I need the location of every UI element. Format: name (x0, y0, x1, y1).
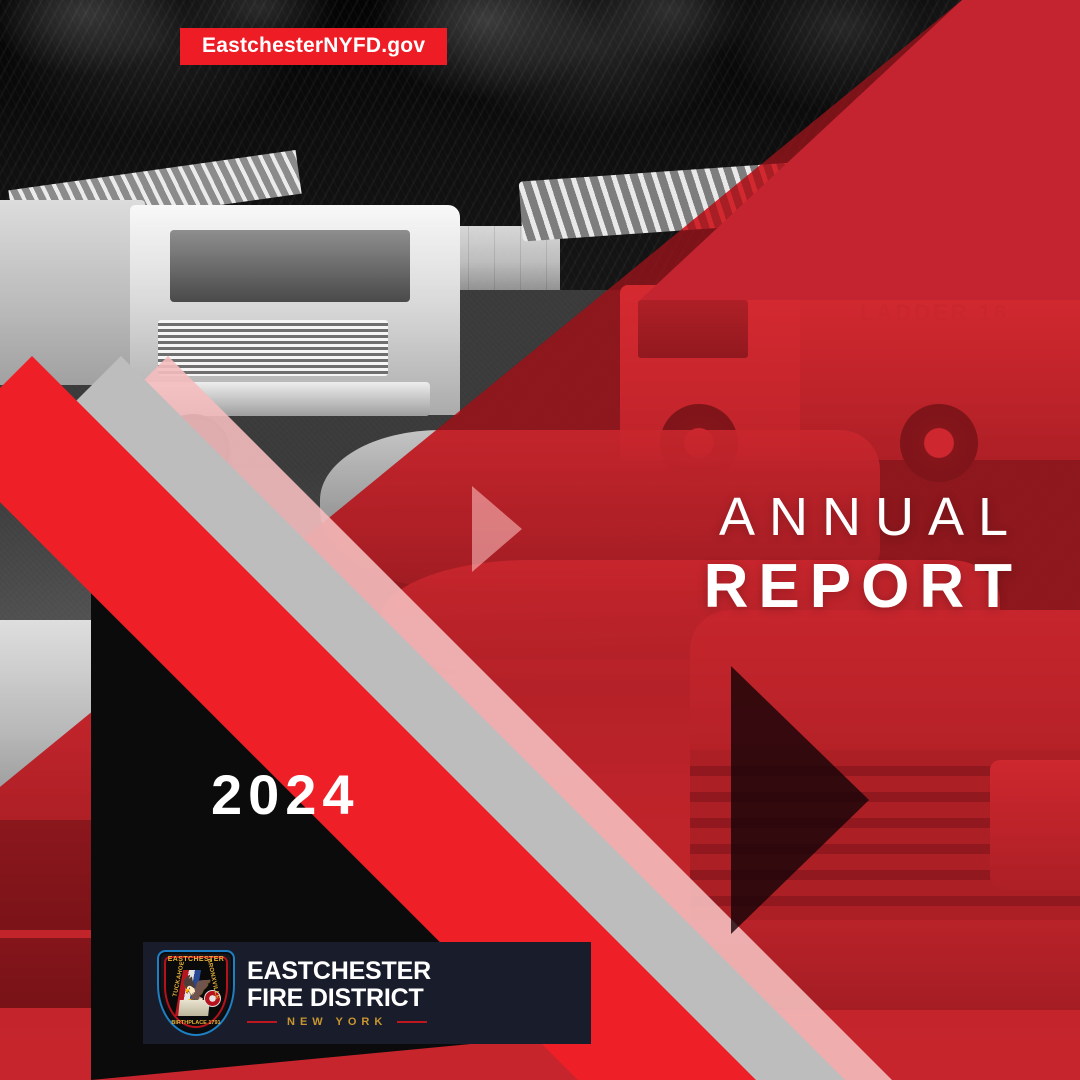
logo-state-label: NEW YORK (287, 1016, 387, 1028)
cover-title: ANNUAL REPORT (704, 490, 1022, 618)
report-year: 2024 (211, 767, 360, 823)
logo-name-line-2: FIRE DISTRICT (247, 985, 431, 1012)
pink-arrow-icon (472, 486, 522, 572)
website-url-banner[interactable]: EastchesterNYFD.gov (180, 28, 447, 65)
dark-arrow-icon (731, 666, 869, 934)
rule-left (247, 1021, 277, 1023)
title-line-annual: ANNUAL (704, 490, 1022, 544)
annual-report-cover: LADDER 16 EastchesterNYFD.gov A (0, 0, 1080, 1080)
logo-state-row: NEW YORK (247, 1016, 431, 1028)
fire-district-badge-icon: 🦅 EASTCHESTER TUCKAHOE BRONXVILLE BIRTHP… (157, 950, 235, 1036)
logo-lockup-bar[interactable]: 🦅 EASTCHESTER TUCKAHOE BRONXVILLE BIRTHP… (143, 942, 591, 1044)
badge-bottom-text: BIRTHPLACE 1791 (157, 1020, 235, 1027)
title-line-report: REPORT (704, 556, 1022, 618)
rule-right (397, 1021, 427, 1023)
logo-name-line-1: EASTCHESTER (247, 958, 431, 985)
logo-wordmark: EASTCHESTER FIRE DISTRICT NEW YORK (247, 958, 431, 1028)
badge-top-text: EASTCHESTER (157, 956, 235, 963)
